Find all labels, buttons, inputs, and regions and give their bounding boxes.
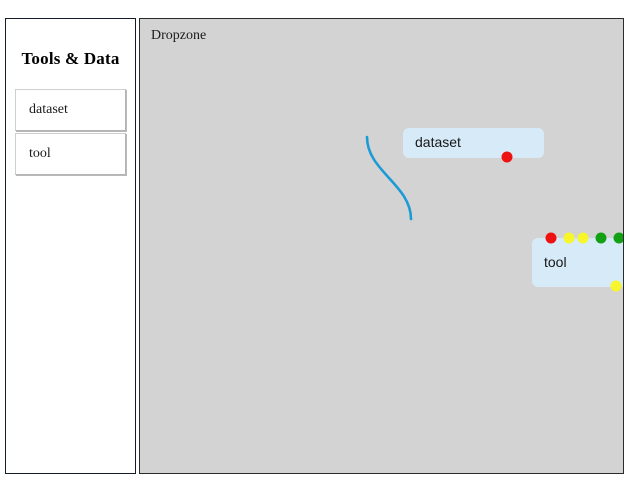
palette-item-dataset[interactable]: dataset (15, 89, 126, 131)
port-tool-input-yellow-1[interactable] (564, 233, 575, 244)
palette-item-label: dataset (29, 102, 68, 118)
palette-list: dataset tool (15, 89, 126, 175)
node-dataset[interactable]: dataset (403, 128, 544, 158)
port-tool-input-green-2[interactable] (614, 233, 625, 244)
port-tool-output-yellow[interactable] (611, 281, 622, 292)
port-dataset-output-red[interactable] (502, 152, 513, 163)
page-title: Tools & Data (6, 49, 135, 69)
node-label: tool (544, 254, 567, 270)
dropzone-canvas[interactable]: Dropzone dataset tool (139, 18, 624, 474)
node-label: dataset (415, 134, 461, 150)
port-tool-input-green-1[interactable] (596, 233, 607, 244)
node-tool[interactable]: tool (532, 238, 624, 287)
palette-item-label: tool (29, 146, 51, 162)
palette-item-tool[interactable]: tool (15, 133, 126, 175)
tools-and-data-panel: Tools & Data dataset tool (5, 18, 136, 474)
dropzone-label: Dropzone (151, 28, 206, 44)
port-tool-input-yellow-2[interactable] (578, 233, 589, 244)
port-tool-input-red[interactable] (546, 233, 557, 244)
